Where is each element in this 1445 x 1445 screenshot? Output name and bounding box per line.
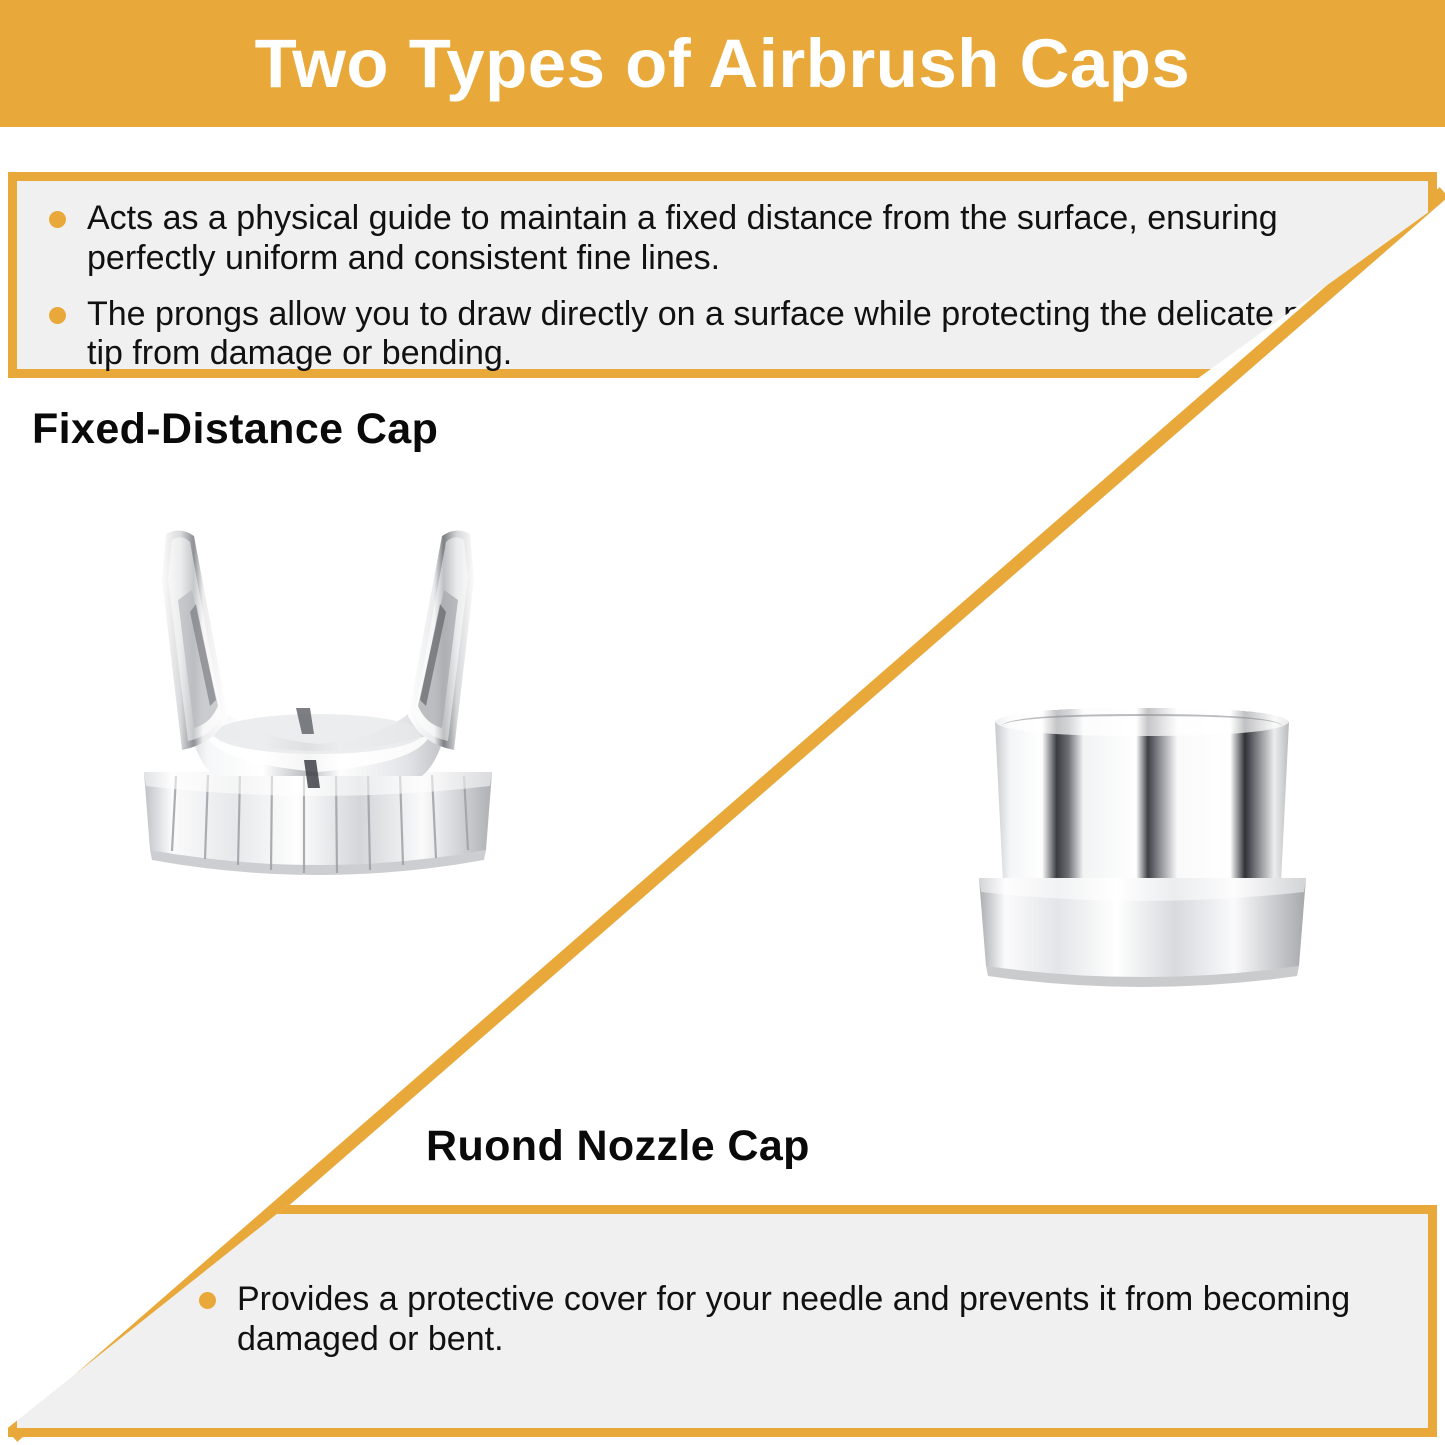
section-caption-round-nozzle-cap: Ruond Nozzle Cap [426,1122,810,1171]
section-caption-fixed-distance-cap: Fixed-Distance Cap [32,405,438,454]
nozzle-cap-knurled-base [979,878,1306,987]
bottom-callout-content: Provides a protective cover for your nee… [17,1214,1428,1360]
bullet-dot-icon [49,307,66,324]
bullet-dot-icon [49,211,66,228]
bottom-bullet-list: Provides a protective cover for your nee… [195,1280,1404,1360]
list-item-text: Acts as a physical guide to maintain a f… [87,199,1278,277]
list-item: Provides a protective cover for your nee… [195,1280,1404,1360]
page-title: Two Types of Airbrush Caps [255,29,1191,98]
header-banner: Two Types of Airbrush Caps [0,0,1445,127]
list-item-text: Provides a protective cover for your nee… [237,1280,1350,1358]
round-nozzle-cap-photo [965,692,1320,987]
list-item-text: The prongs allow you to draw directly on… [87,295,1385,373]
infographic-canvas: Two Types of Airbrush Caps Acts as a phy… [0,0,1445,1445]
top-bullet-list: Acts as a physical guide to maintain a f… [45,199,1404,374]
bottom-callout-panel: Provides a protective cover for your nee… [8,1205,1437,1437]
nozzle-cap-barrel [995,708,1289,882]
top-callout-content: Acts as a physical guide to maintain a f… [17,181,1428,374]
crown-cap-right-prong [408,530,474,750]
bullet-dot-icon [199,1292,216,1309]
list-item: The prongs allow you to draw directly on… [45,295,1404,375]
list-item: Acts as a physical guide to maintain a f… [45,199,1404,279]
top-callout-panel: Acts as a physical guide to maintain a f… [8,172,1437,378]
crown-cap-left-prong [162,530,228,750]
crown-cap-photo [118,520,518,890]
